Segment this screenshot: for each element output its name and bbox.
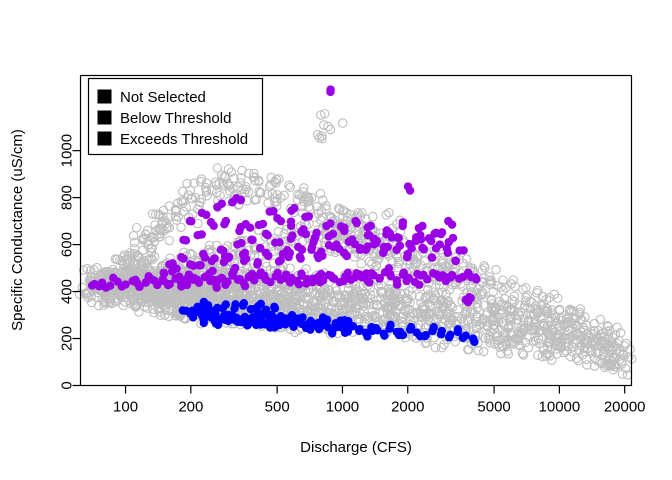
data-point [404,182,412,190]
data-point [301,213,309,221]
data-point [237,239,245,247]
data-point [177,253,185,261]
data-point [382,230,390,238]
data-point [415,281,423,289]
data-point [308,243,316,251]
data-point [202,211,210,219]
data-point [446,331,454,339]
data-point [333,323,341,331]
data-point [204,271,212,279]
data-point [316,278,324,286]
data-point [198,230,206,238]
x-tick-label: 2000 [391,399,424,416]
data-point [267,311,275,319]
data-point [470,338,478,346]
data-point [447,273,455,281]
data-point [260,320,268,328]
data-point [232,194,240,202]
legend-entry-exceeds-threshold: Exceeds Threshold [98,131,248,148]
data-point [418,244,426,252]
data-point [393,233,401,241]
data-point [133,279,141,287]
legend-label-below-threshold: Below Threshold [120,110,231,127]
data-point [231,300,239,308]
data-point [295,280,303,288]
data-point [210,254,218,262]
data-point [219,304,227,312]
data-point [419,271,427,279]
data-point [241,282,249,290]
y-tick-label: 400 [59,279,76,304]
data-point [393,280,401,288]
data-point [326,85,334,93]
data-point [288,231,296,239]
data-point [237,223,245,231]
data-point [311,233,319,241]
data-point [271,319,279,327]
data-point [240,299,248,307]
data-point [150,276,158,284]
data-point [363,242,371,250]
data-point [160,269,168,277]
data-point [386,270,394,278]
data-point [284,253,292,261]
data-point [353,219,361,227]
data-point [254,258,262,266]
data-point [329,230,337,238]
data-point [109,274,117,282]
data-point [246,272,254,280]
data-point [319,313,327,321]
x-tick-label: 100 [113,399,138,416]
x-axis-title: Discharge (CFS) [300,439,412,456]
data-point [465,293,473,301]
data-point [220,220,228,228]
data-point [367,269,375,277]
y-tick-label: 600 [59,232,76,257]
data-point [200,319,208,327]
data-point [249,313,257,321]
data-point [195,261,203,269]
data-point [273,214,281,222]
legend-label-not-selected: Not Selected [120,89,206,106]
data-point [364,223,372,231]
data-point [187,217,195,225]
data-point [396,328,404,336]
data-point [322,222,330,230]
y-tick-label: 200 [59,326,76,351]
data-point [438,327,446,335]
data-point [186,260,194,268]
data-point [277,256,285,264]
data-point [88,281,96,289]
data-point [265,207,273,215]
data-point [343,252,351,260]
data-point [417,235,425,243]
data-point [347,236,355,244]
data-point [341,329,349,337]
data-point [472,275,480,283]
data-point [365,278,373,286]
x-tick-label: 5000 [477,399,510,416]
data-point [402,277,410,285]
data-point [187,309,195,317]
data-point [287,217,295,225]
data-point [455,246,463,254]
data-point [247,236,255,244]
data-point [380,331,388,339]
data-point [210,308,218,316]
data-point [179,306,187,314]
data-point [262,230,270,238]
data-point [221,281,229,289]
data-point [386,321,394,329]
x-tick-label: 200 [178,399,203,416]
x-tick-label: 500 [265,399,290,416]
data-point [344,317,352,325]
data-point [218,200,226,208]
data-point [262,249,270,257]
data-point [215,275,223,283]
data-point [430,323,438,331]
data-point [372,324,380,332]
data-point [224,254,232,262]
data-point [451,256,459,264]
data-point [444,217,452,225]
data-point [399,222,407,230]
data-point [454,325,462,333]
data-point [459,334,467,342]
data-point [200,298,208,306]
data-point [240,257,248,265]
data-point [392,246,400,254]
data-point [298,228,306,236]
data-point [428,254,436,262]
data-point [193,275,201,283]
x-tick-label: 20000 [604,399,646,416]
data-point [294,314,302,322]
data-point [296,253,304,261]
data-point [432,244,440,252]
data-point [403,253,411,261]
data-point [207,218,215,226]
data-point [325,241,333,249]
y-tick-label: 1000 [59,134,76,167]
data-point [407,244,415,252]
data-point [418,222,426,230]
data-point [445,238,453,246]
x-tick-label: 1000 [326,399,359,416]
data-point [255,221,263,229]
data-point [168,267,176,275]
data-point [275,238,283,246]
legend-swatch-not-selected [98,90,111,103]
x-tick-label: 10000 [539,399,581,416]
y-axis-title: Specific Conductance (uS/cm) [9,129,26,331]
data-point [370,235,378,243]
plot-canvas: 1002005001000200050001000020000 02004006… [0,0,672,480]
data-point [214,321,222,329]
data-point [164,281,172,289]
data-point [183,275,191,283]
legend: Not Selected Below Threshold Exceeds Thr… [89,79,263,155]
y-tick-label: 800 [59,185,76,210]
data-point [430,230,438,238]
y-tick-label: 0 [59,381,76,389]
data-point [212,283,220,291]
data-point [182,236,190,244]
data-point [222,311,230,319]
legend-swatch-below-threshold [98,111,111,124]
legend-swatch-exceeds-threshold [98,132,111,145]
legend-label-exceeds-threshold: Exceeds Threshold [120,131,248,148]
data-point [337,222,345,230]
data-point [229,267,237,275]
data-point [262,276,270,284]
data-point [102,284,110,292]
scatter-plot-figure: 1002005001000200050001000020000 02004006… [0,0,672,480]
data-point [380,243,388,251]
data-point [314,254,322,262]
data-point [118,282,126,290]
data-point [287,207,295,215]
